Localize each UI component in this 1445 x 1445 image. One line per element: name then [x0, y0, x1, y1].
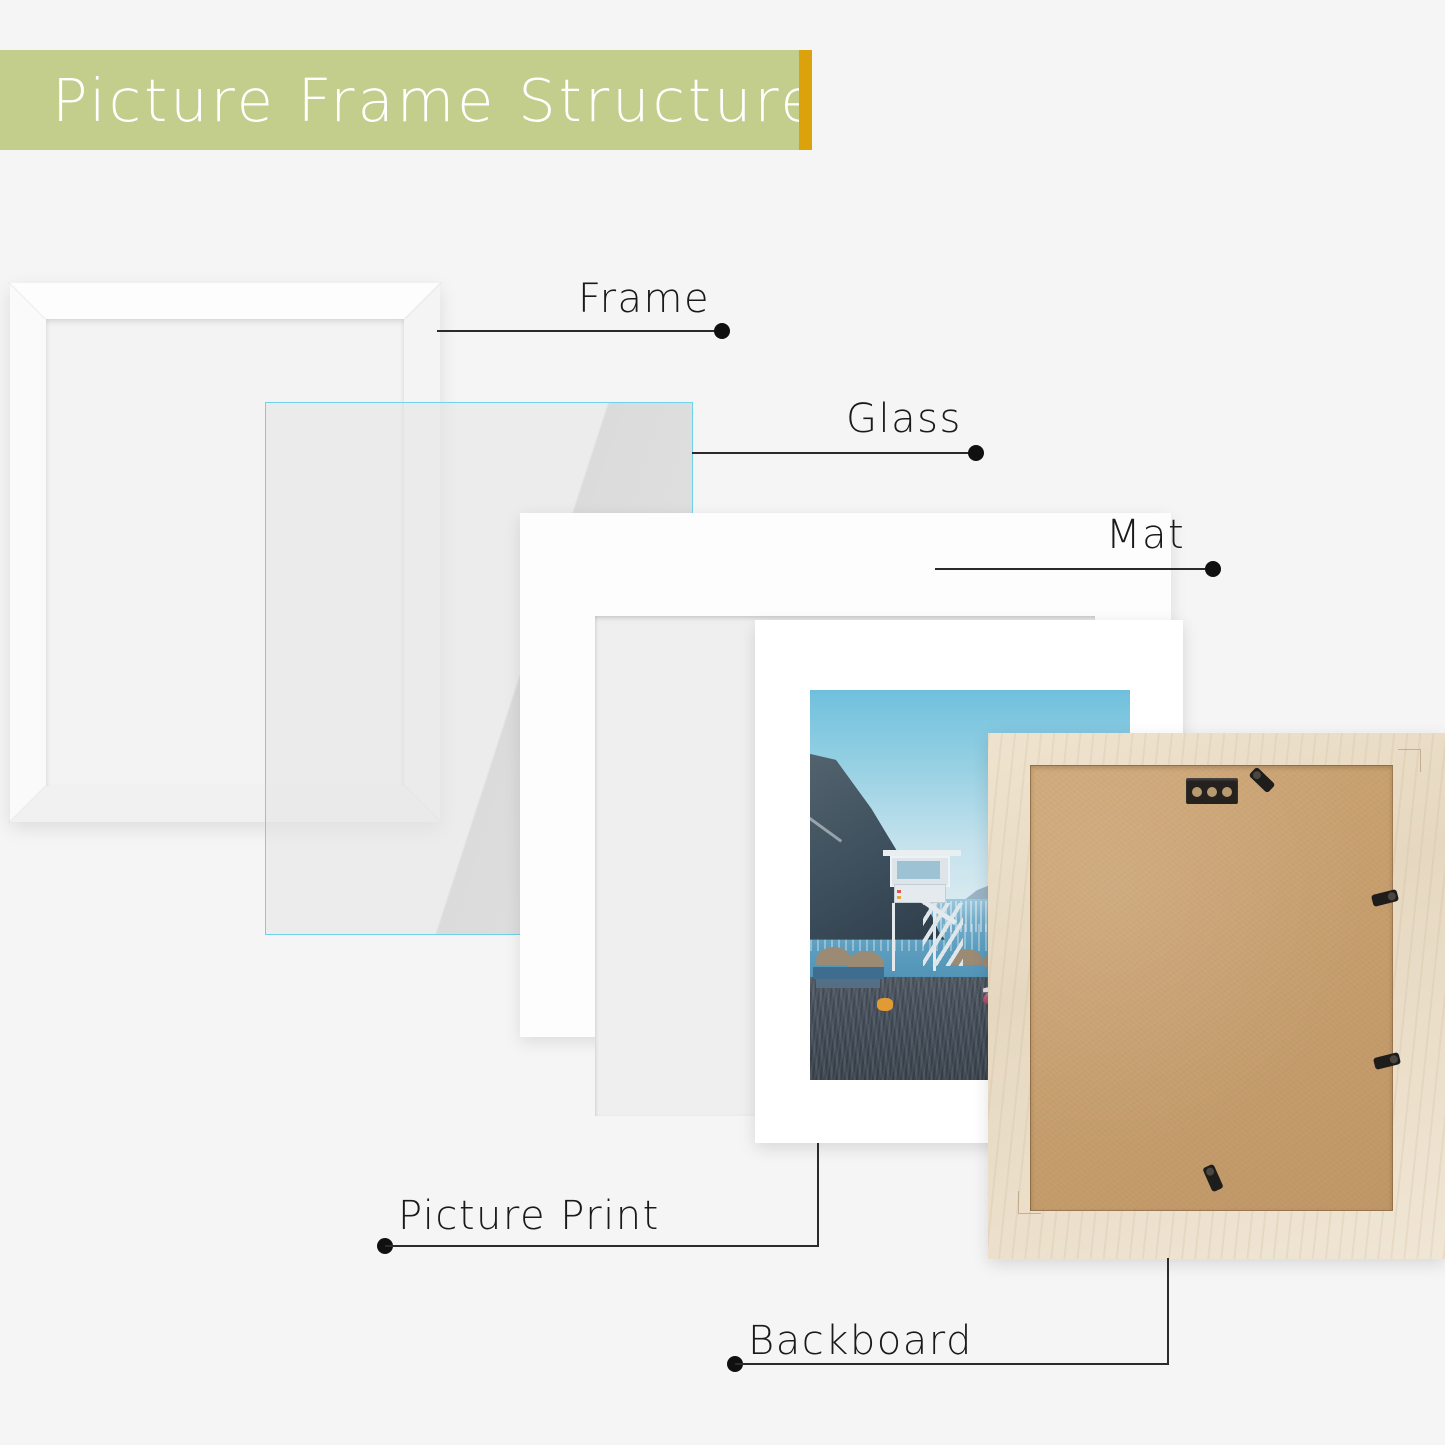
- tower-marker-orange: [897, 896, 901, 900]
- callout-leader-glass: [692, 452, 975, 454]
- callout-leader-backboard-h: [735, 1363, 1169, 1365]
- callout-label-backboard: Backboard: [748, 1318, 973, 1364]
- callout-dot-frame[interactable]: [714, 323, 730, 339]
- hanger-hole: [1192, 787, 1202, 797]
- photo-loungers: [816, 979, 880, 989]
- callout-leader-backboard-v: [1167, 1258, 1169, 1364]
- callout-leader-mat: [935, 568, 1212, 570]
- hanger-hole: [1222, 787, 1232, 797]
- sawtooth-hanger-icon: [1186, 778, 1238, 804]
- backboard-corner-bracket: [1398, 749, 1421, 772]
- diagram-canvas: Picture Frame Structure: [0, 0, 1445, 1445]
- backboard-corner-bracket: [1018, 1191, 1041, 1214]
- tower-panel: [894, 884, 946, 903]
- tower-marker-red: [897, 890, 901, 894]
- photo-loungers: [813, 967, 883, 979]
- photo-buoy: [877, 998, 893, 1010]
- callout-label-picture-print: Picture Print: [398, 1193, 660, 1239]
- tower-window: [897, 861, 941, 879]
- page-title: Picture Frame Structure: [52, 71, 820, 130]
- callout-leader-picture-print-h: [385, 1245, 819, 1247]
- callout-label-mat: Mat: [1106, 512, 1185, 558]
- callout-label-frame: Frame: [578, 276, 710, 322]
- callout-leader-frame: [437, 330, 720, 332]
- layer-backboard[interactable]: [988, 733, 1445, 1259]
- title-accent-bar: [799, 50, 812, 150]
- callout-dot-mat[interactable]: [1205, 561, 1221, 577]
- backboard-mdf-panel: [1030, 765, 1393, 1211]
- callout-leader-picture-print-v: [817, 1143, 819, 1246]
- callout-dot-glass[interactable]: [968, 445, 984, 461]
- title-banner: Picture Frame Structure: [0, 50, 812, 150]
- callout-label-glass: Glass: [846, 396, 962, 442]
- photo-umbrella: [816, 947, 851, 965]
- photo-lifeguard-tower: [887, 850, 957, 971]
- tower-leg-left: [892, 903, 895, 971]
- photo-mountain-path: [810, 816, 843, 842]
- hanger-hole: [1207, 787, 1217, 797]
